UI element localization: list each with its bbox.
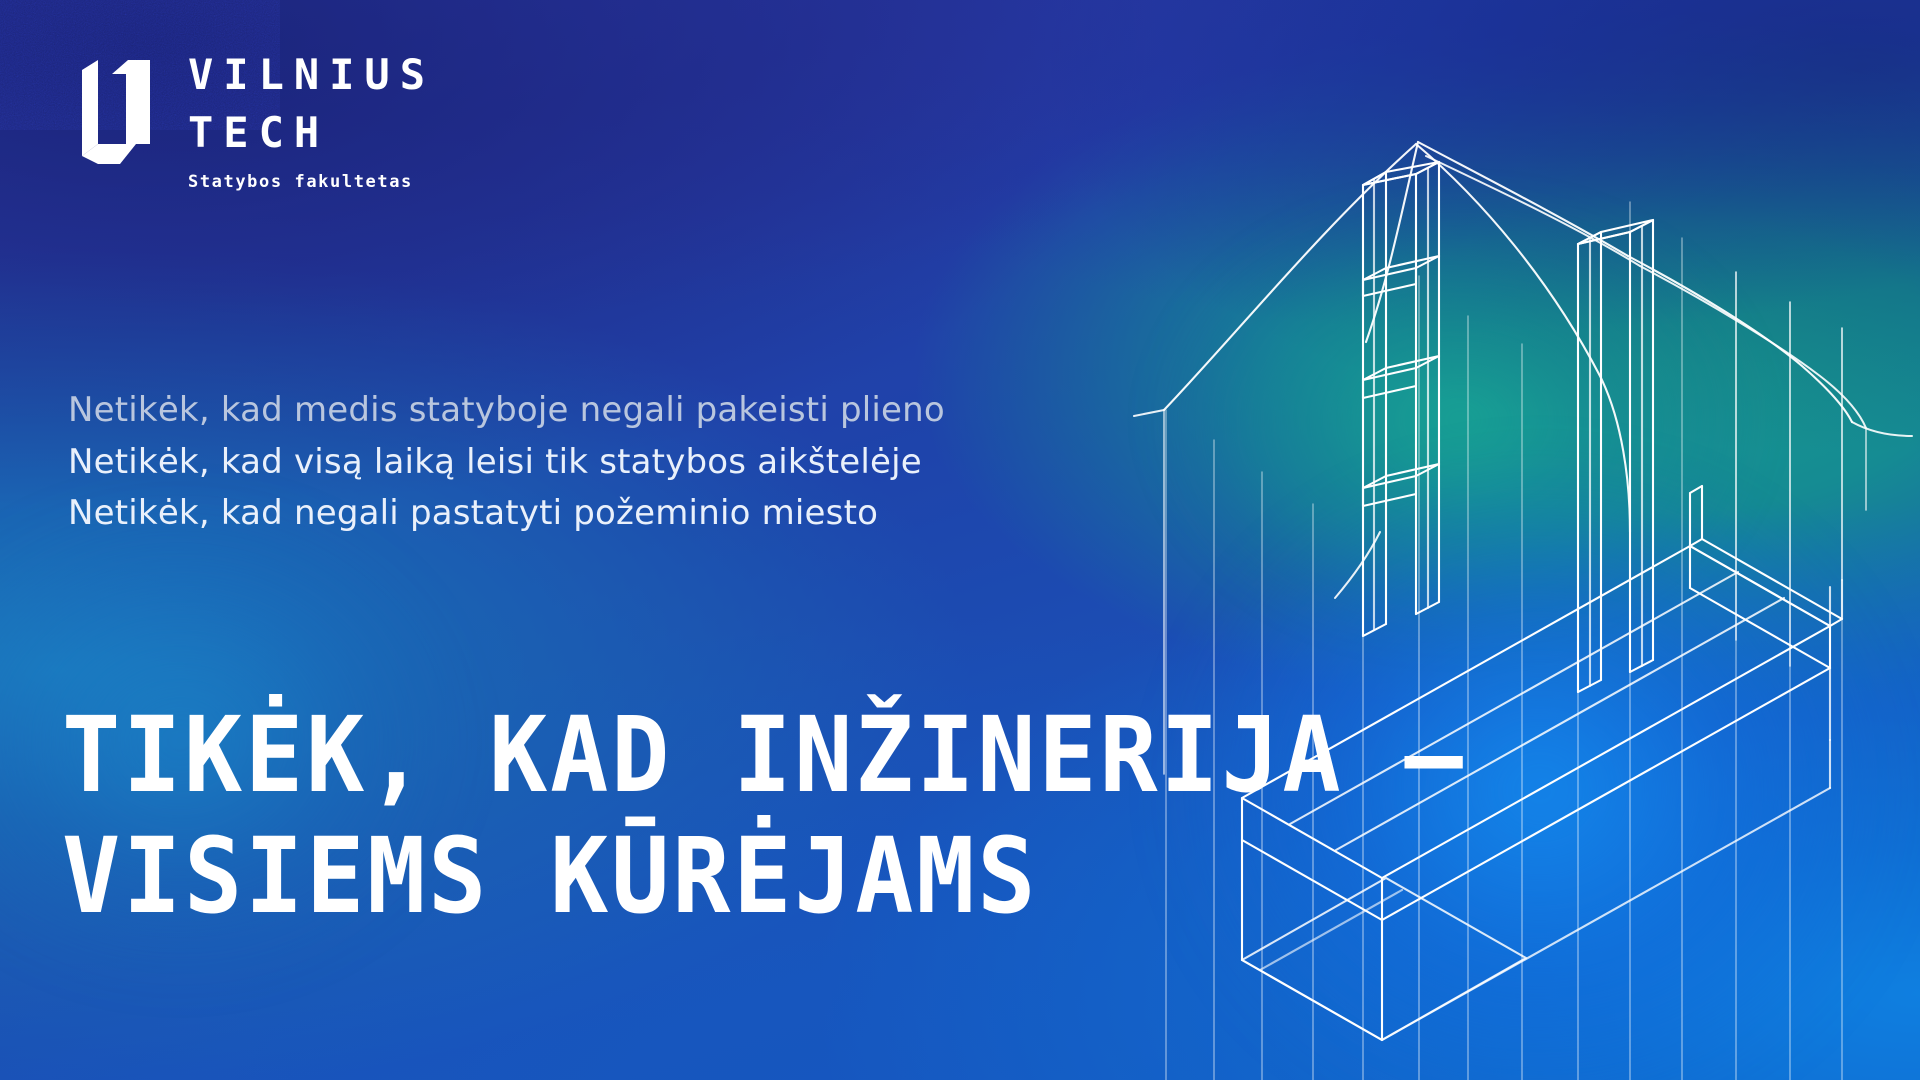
claim-line-3: Netikėk, kad negali pastatyti požeminio … [68,488,1118,540]
claim-line-1: Netikėk, kad medis statyboje negali pake… [68,385,1118,437]
headline-line-1: TIKĖK, KAD INŽINERIJA — [62,695,1411,816]
vilnius-tech-mark-icon [60,52,156,170]
claim-line-2: Netikėk, kad visą laiką leisi tik statyb… [68,437,1118,489]
logo-wordmark: VILNIUS TECH Statybos fakultetas [188,50,435,192]
headline-block: TIKĖK, KAD INŽINERIJA — VISIEMS KŪRĖJAMS [62,695,1512,936]
claims-block: Netikėk, kad medis statyboje negali pake… [68,385,1118,540]
logo-word-vilnius: VILNIUS [188,54,435,96]
vilnius-tech-logo[interactable]: VILNIUS TECH Statybos fakultetas [60,50,435,192]
poster-canvas: VILNIUS TECH Statybos fakultetas Netikėk… [0,0,1920,1080]
headline-line-2: VISIEMS KŪRĖJAMS [62,816,1411,937]
logo-word-tech: TECH [188,112,435,154]
faculty-name: Statybos fakultetas [188,172,435,192]
